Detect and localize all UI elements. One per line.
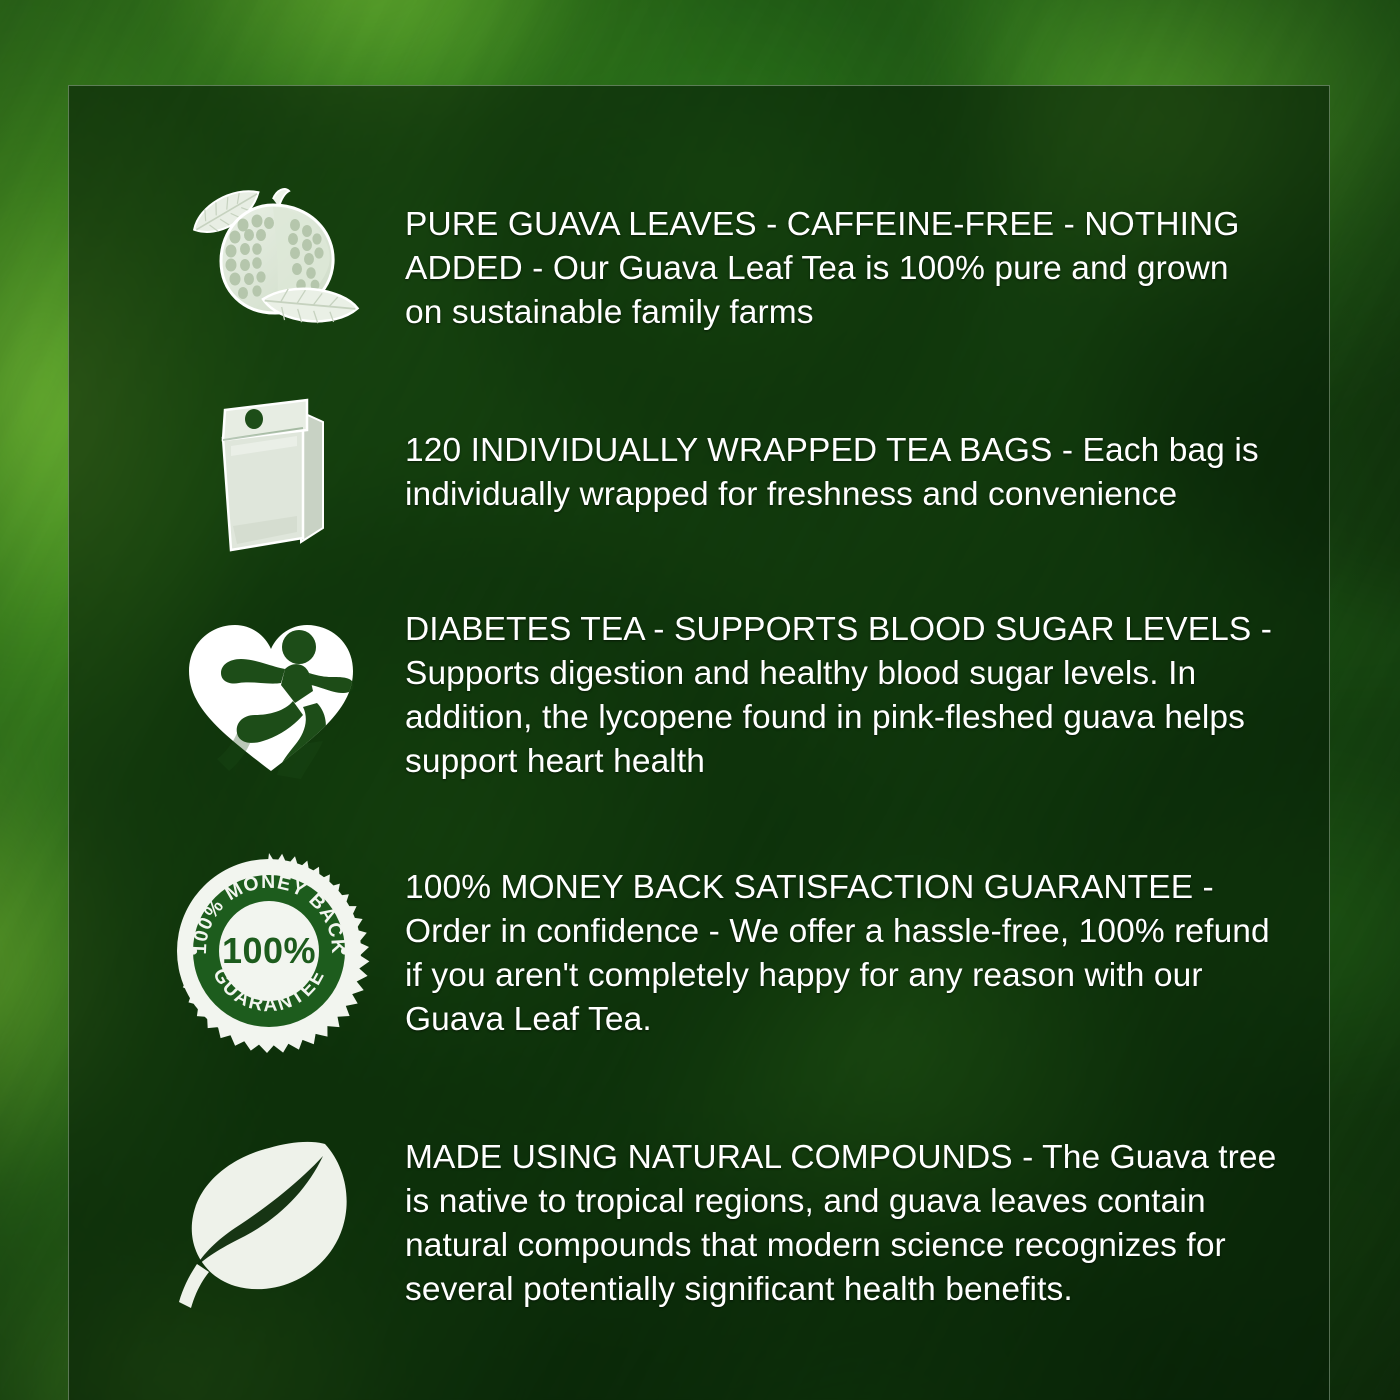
feature-text: 100% MONEY BACK SATISFACTION GUARANTEE -…	[405, 866, 1295, 1042]
money-back-guarantee-badge-icon: 100% MONEY BACK GUARANTEE 100%	[169, 851, 369, 1051]
feature-list-panel: PURE GUAVA LEAVES - CAFFEINE-FREE - NOTH…	[68, 85, 1330, 1400]
feature-list: PURE GUAVA LEAVES - CAFFEINE-FREE - NOTH…	[69, 86, 1329, 1400]
heart-runner-icon	[181, 611, 361, 786]
feature-text: 120 INDIVIDUALLY WRAPPED TEA BAGS - Each…	[405, 429, 1285, 517]
feature-text: PURE GUAVA LEAVES - CAFFEINE-FREE - NOTH…	[405, 203, 1275, 335]
feature-text: DIABETES TEA - SUPPORTS BLOOD SUGAR LEVE…	[405, 608, 1275, 784]
leaf-icon	[173, 1136, 363, 1316]
tea-bag-pouch-icon	[197, 386, 347, 556]
badge-center-text: 100%	[222, 930, 316, 971]
infographic-canvas: PURE GUAVA LEAVES - CAFFEINE-FREE - NOTH…	[0, 0, 1400, 1400]
feature-text: MADE USING NATURAL COMPOUNDS - The Guava…	[405, 1136, 1295, 1312]
guava-fruit-icon	[181, 181, 361, 341]
